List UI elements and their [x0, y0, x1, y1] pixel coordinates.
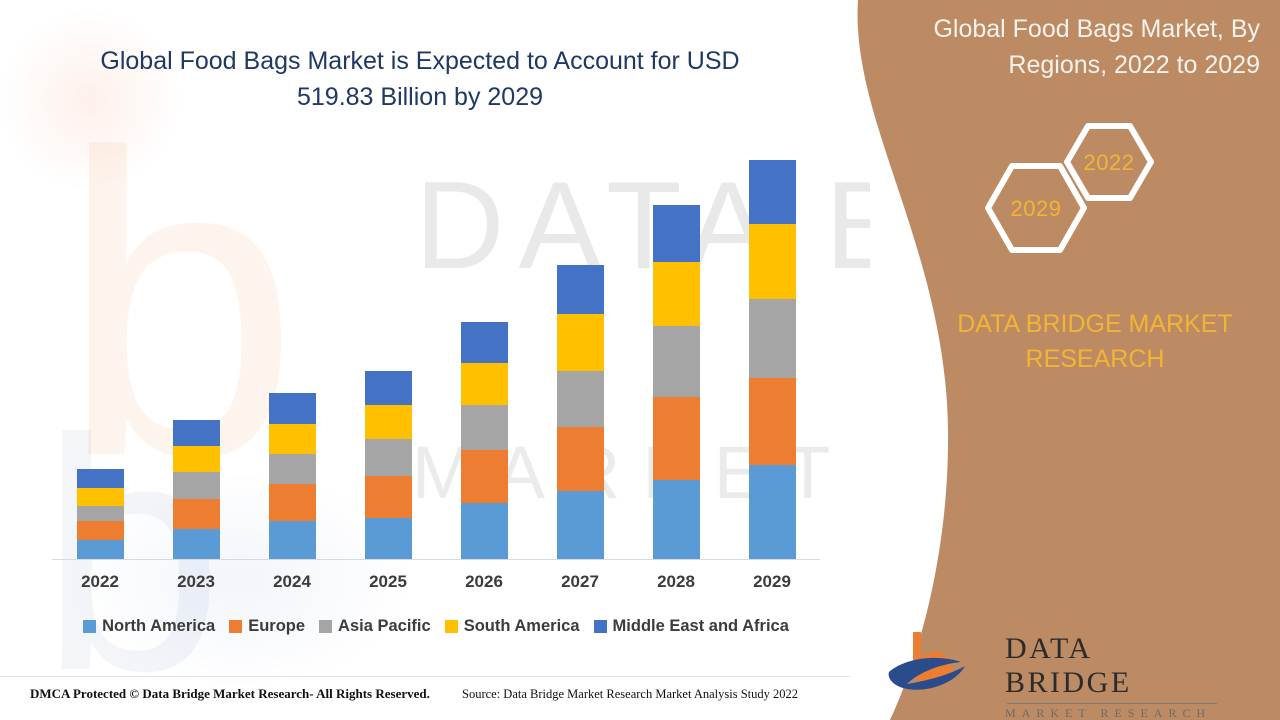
legend-item[interactable]: Middle East and Africa: [594, 617, 789, 636]
bar-segment: [557, 427, 604, 491]
legend-label: South America: [464, 617, 580, 636]
bar-segment: [77, 469, 124, 488]
stacked-bar[interactable]: [173, 420, 220, 559]
legend-label: Middle East and Africa: [613, 617, 789, 636]
legend-label: Asia Pacific: [338, 617, 431, 636]
legend-item[interactable]: Europe: [229, 617, 305, 636]
bar-segment: [365, 439, 412, 477]
bar-segment: [461, 363, 508, 404]
legend-item[interactable]: Asia Pacific: [319, 617, 431, 636]
x-axis-tick-label: 2022: [52, 572, 148, 592]
chart-x-axis: 20222023202420252026202720282029: [52, 572, 820, 592]
bar-segment: [749, 299, 796, 378]
bar-segment: [557, 491, 604, 559]
x-axis-tick-label: 2023: [148, 572, 244, 592]
bar-slot: [340, 160, 436, 559]
bar-segment: [173, 420, 220, 446]
logo-divider: [1007, 703, 1217, 704]
bar-segment: [749, 160, 796, 224]
logo-mark-icon: [885, 628, 995, 700]
logo-main-text: DATA BRIDGE: [1005, 632, 1217, 700]
bar-slot: [52, 160, 148, 559]
chart-bars: [52, 160, 820, 559]
bar-segment: [365, 405, 412, 439]
bar-segment: [173, 529, 220, 559]
bar-segment: [461, 405, 508, 450]
panel-title: Global Food Bags Market, By Regions, 202…: [850, 12, 1260, 83]
bar-slot: [532, 160, 628, 559]
stacked-bar[interactable]: [269, 393, 316, 559]
x-axis-tick-label: 2024: [244, 572, 340, 592]
bar-segment: [77, 540, 124, 559]
bar-segment: [557, 265, 604, 314]
bar-segment: [365, 476, 412, 517]
bar-segment: [269, 521, 316, 559]
bar-segment: [749, 378, 796, 465]
stacked-bar[interactable]: [461, 322, 508, 559]
bar-slot: [244, 160, 340, 559]
right-panel: Global Food Bags Market, By Regions, 202…: [790, 0, 1280, 720]
bar-segment: [173, 446, 220, 472]
bar-slot: [436, 160, 532, 559]
dmca-notice: DMCA Protected © Data Bridge Market Rese…: [30, 686, 430, 702]
stacked-bar[interactable]: [653, 205, 700, 559]
legend-item[interactable]: North America: [83, 617, 215, 636]
hexagon-label-2022: 2022: [1066, 150, 1152, 176]
bar-segment: [77, 488, 124, 507]
bar-slot: [148, 160, 244, 559]
bar-segment: [749, 224, 796, 299]
chart-baseline: [52, 559, 820, 560]
legend-item[interactable]: South America: [445, 617, 580, 636]
logo-text: DATA BRIDGE MARKET RESEARCH: [1005, 632, 1217, 720]
page-title: Global Food Bags Market is Expected to A…: [70, 44, 770, 115]
bar-segment: [365, 518, 412, 559]
legend-label: North America: [102, 617, 215, 636]
bar-segment: [653, 397, 700, 480]
panel-brand-name: DATA BRIDGE MARKET RESEARCH: [930, 307, 1260, 376]
stacked-bar[interactable]: [749, 160, 796, 559]
hexagon-label-2029: 2029: [992, 196, 1080, 222]
source-note: Source: Data Bridge Market Research Mark…: [462, 687, 798, 702]
bar-segment: [269, 424, 316, 454]
x-axis-tick-label: 2027: [532, 572, 628, 592]
bar-segment: [653, 262, 700, 326]
bar-segment: [461, 450, 508, 503]
bar-segment: [269, 393, 316, 423]
legend-swatch-icon: [83, 620, 96, 633]
x-axis-tick-label: 2025: [340, 572, 436, 592]
bar-segment: [173, 472, 220, 498]
bar-segment: [269, 484, 316, 522]
bar-segment: [461, 322, 508, 363]
logo-sub-text: MARKET RESEARCH: [1005, 706, 1217, 720]
legend-swatch-icon: [229, 620, 242, 633]
bar-segment: [653, 480, 700, 559]
chart-legend: North AmericaEuropeAsia PacificSouth Ame…: [52, 617, 820, 636]
logo: DATA BRIDGE MARKET RESEARCH: [885, 628, 1215, 700]
bar-segment: [365, 371, 412, 405]
bar-slot: [628, 160, 724, 559]
legend-label: Europe: [248, 617, 305, 636]
legend-swatch-icon: [594, 620, 607, 633]
bar-segment: [269, 454, 316, 484]
bar-segment: [653, 205, 700, 261]
legend-swatch-icon: [319, 620, 332, 633]
x-axis-tick-label: 2026: [436, 572, 532, 592]
bar-segment: [557, 371, 604, 427]
bar-segment: [653, 326, 700, 398]
stacked-bar[interactable]: [77, 469, 124, 559]
stacked-bar[interactable]: [557, 265, 604, 559]
bar-segment: [749, 465, 796, 559]
legend-swatch-icon: [445, 620, 458, 633]
x-axis-tick-label: 2028: [628, 572, 724, 592]
bar-segment: [557, 314, 604, 370]
bar-segment: [173, 499, 220, 529]
stacked-bar-chart: [52, 160, 820, 560]
chart-canvas: b b DATA BRIDGE MARKET RESEARCH Global F…: [0, 0, 1280, 720]
bar-segment: [77, 506, 124, 521]
hexagon-group: 2029 2022: [970, 118, 1200, 288]
stacked-bar[interactable]: [365, 371, 412, 559]
bar-segment: [461, 503, 508, 559]
footer-divider: [0, 676, 850, 677]
bar-segment: [77, 521, 124, 540]
